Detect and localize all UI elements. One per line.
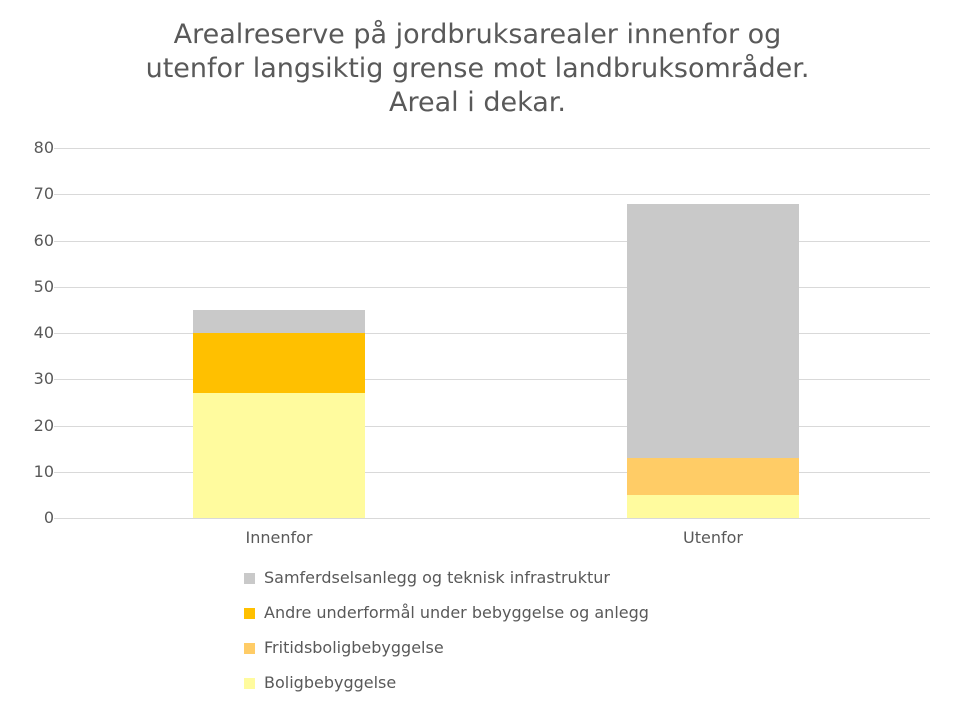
legend-swatch-icon [244,643,255,654]
y-axis-tick-mark [54,287,62,288]
legend-item[interactable]: Samferdselsanlegg og teknisk infrastrukt… [244,566,610,590]
y-axis-tick-label: 30 [0,371,54,387]
gridline [62,518,930,519]
bar-segment[interactable] [627,458,799,495]
plot-area [62,148,930,518]
y-axis-tick-mark [54,518,62,519]
legend-item[interactable]: Boligbebyggelse [244,671,396,695]
y-axis: 80706050403020100 [0,148,54,518]
y-axis-tick-mark [54,379,62,380]
y-axis-tick-mark [54,426,62,427]
bar-segment[interactable] [627,204,799,458]
x-axis-tick-label: Utenfor [496,528,930,548]
bar-segment[interactable] [193,333,365,393]
y-axis-tick-label: 20 [0,418,54,434]
y-axis-tick-label: 10 [0,464,54,480]
bar-segment[interactable] [627,495,799,518]
legend-item-label: Andre underformål under bebyggelse og an… [264,603,649,623]
bar-column[interactable] [193,148,365,518]
legend-item[interactable]: Andre underformål under bebyggelse og an… [244,601,649,625]
y-axis-tick-label: 80 [0,140,54,156]
legend-item-label: Fritidsboligbebyggelse [264,638,444,658]
x-axis: InnenforUtenfor [62,528,930,556]
y-axis-tick-mark [54,333,62,334]
bar-column[interactable] [627,148,799,518]
y-axis-tick-label: 40 [0,325,54,341]
legend-swatch-icon [244,608,255,619]
y-axis-tick-mark [54,194,62,195]
y-axis-tick-label: 60 [0,233,54,249]
y-axis-tick-label: 0 [0,510,54,526]
y-axis-tick-mark [54,148,62,149]
bar-segment[interactable] [193,310,365,333]
x-axis-tick-label: Innenfor [62,528,496,548]
legend-item-label: Boligbebyggelse [264,673,396,693]
legend-item[interactable]: Fritidsboligbebyggelse [244,636,444,660]
y-axis-tick-label: 70 [0,186,54,202]
y-axis-tick-mark [54,241,62,242]
bar-segment[interactable] [193,393,365,518]
y-axis-tick-label: 50 [0,279,54,295]
chart-title: Arealreserve på jordbruksarealer innenfo… [0,18,955,120]
chart-legend: Samferdselsanlegg og teknisk infrastrukt… [0,566,955,706]
y-axis-tick-mark [54,472,62,473]
chart-container: Arealreserve på jordbruksarealer innenfo… [0,0,955,717]
legend-item-label: Samferdselsanlegg og teknisk infrastrukt… [264,568,610,588]
legend-swatch-icon [244,573,255,584]
legend-swatch-icon [244,678,255,689]
